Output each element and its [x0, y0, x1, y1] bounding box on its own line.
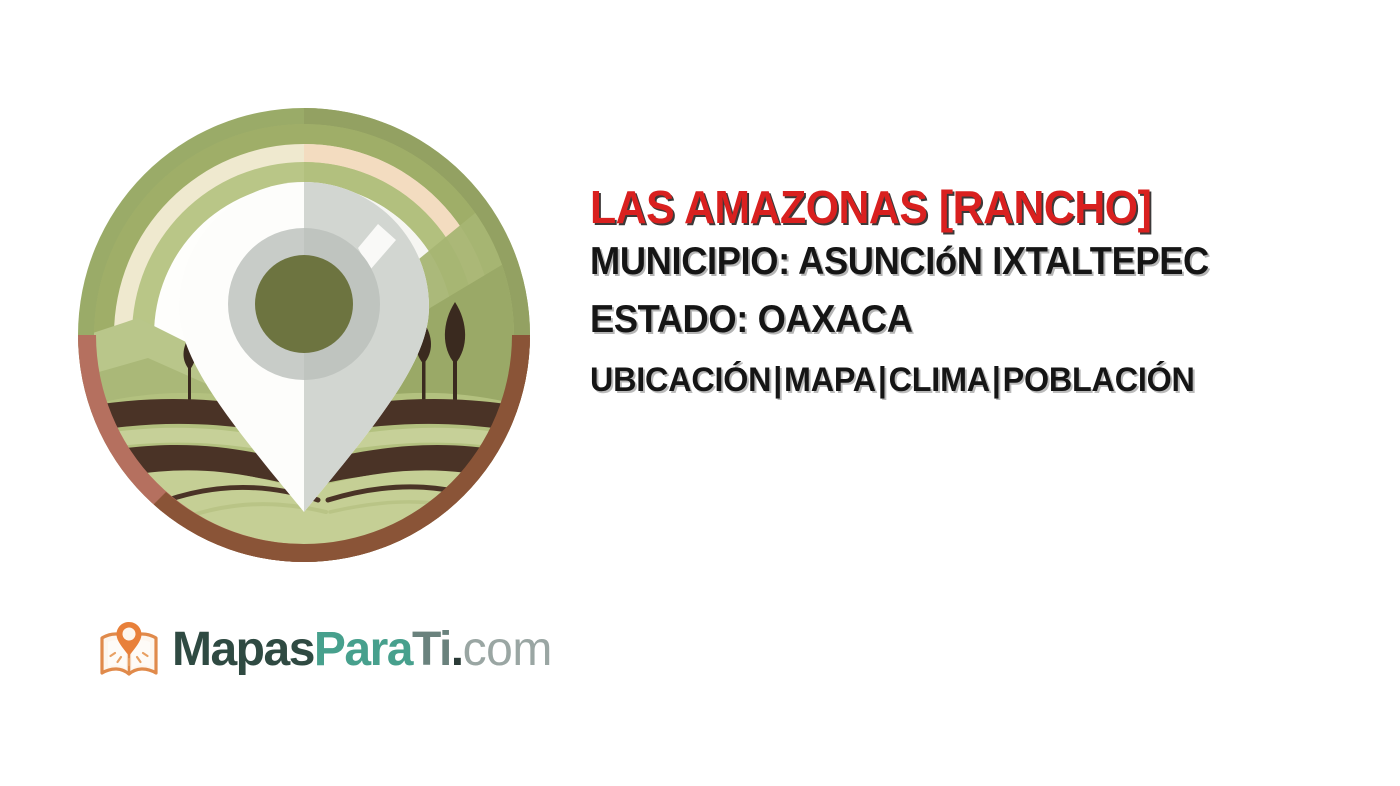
page-title: LAS AMAZONAS [RANCHO] [590, 182, 1334, 232]
hero-illustration [78, 108, 530, 562]
wordmark-com: com [463, 623, 552, 676]
brand-wordmark[interactable]: MapasParaTi.com [172, 621, 552, 679]
brand-logo[interactable]: MapasParaTi.com [98, 618, 552, 682]
map-pin-landscape-badge-icon [78, 108, 530, 562]
separator-1: | [771, 361, 784, 399]
section-links: UBICACIÓN|MAPA|CLIMA|POBLACIÓN [590, 360, 1350, 400]
link-mapa[interactable]: MAPA [784, 361, 876, 399]
link-clima[interactable]: CLIMA [889, 361, 990, 399]
wordmark-mapas: Mapas [172, 623, 314, 676]
open-book-pin-icon [98, 618, 160, 682]
separator-2: | [876, 361, 889, 399]
location-info-block: LAS AMAZONAS [RANCHO] MUNICIPIO: ASUNCIó… [590, 182, 1390, 400]
wordmark-dot: . [451, 623, 463, 676]
estado-line: ESTADO: OAXACA [590, 298, 1334, 342]
link-ubicacion[interactable]: UBICACIÓN [590, 361, 771, 399]
wordmark-ti: Ti [412, 623, 451, 676]
municipio-line: MUNICIPIO: ASUNCIóN IXTALTEPEC [590, 240, 1334, 284]
link-poblacion[interactable]: POBLACIÓN [1003, 361, 1195, 399]
wordmark-para: Para [314, 623, 412, 676]
separator-3: | [990, 361, 1003, 399]
